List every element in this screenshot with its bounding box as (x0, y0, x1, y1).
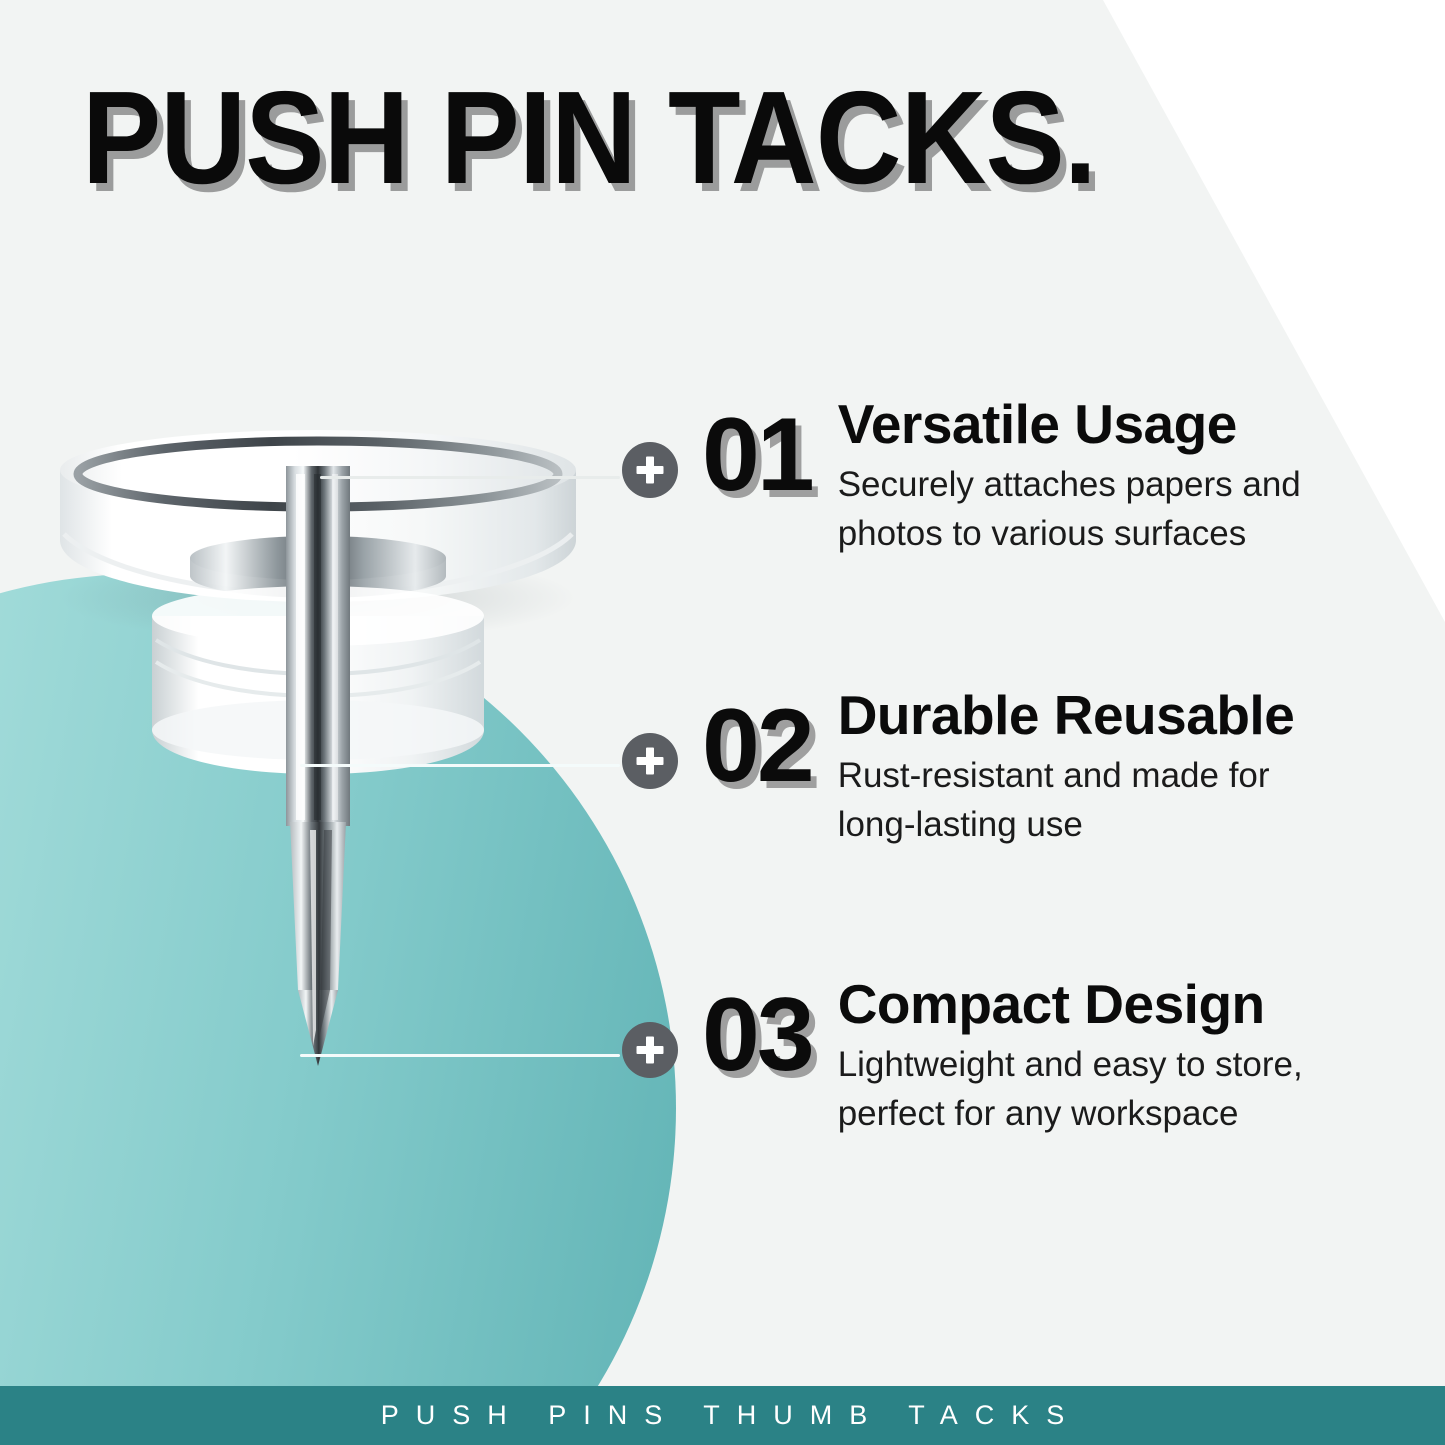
push-pin-product-image (40, 430, 600, 1150)
feature-heading-01: Versatile Usage (838, 396, 1301, 454)
plus-icon[interactable] (622, 733, 678, 789)
footer-bar: PUSH PINS THUMB TACKS (0, 1386, 1445, 1445)
feature-heading-03: Compact Design (838, 976, 1303, 1034)
leader-line-02 (300, 764, 620, 767)
feature-item-01: 01 Versatile Usage Securely attaches pap… (622, 392, 1301, 559)
infographic-canvas: PUSH PIN TACKS. 01 Versatile Usage Secur… (0, 0, 1445, 1445)
plus-icon[interactable] (622, 442, 678, 498)
feature-item-03: 03 Compact Design Lightweight and easy t… (622, 972, 1303, 1139)
leader-line-03 (300, 1054, 620, 1057)
page-title: PUSH PIN TACKS. (82, 72, 1096, 204)
leader-line-01 (320, 476, 620, 479)
footer-tagline: PUSH PINS THUMB TACKS (364, 1400, 1082, 1431)
feature-number-03: 03 (702, 986, 812, 1085)
feature-body-02: Rust-resistant and made for long-lasting… (838, 751, 1295, 850)
plus-icon[interactable] (622, 1022, 678, 1078)
feature-number-02: 02 (702, 697, 812, 796)
feature-heading-02: Durable Reusable (838, 687, 1295, 745)
feature-body-01: Securely attaches papers and photos to v… (838, 460, 1301, 559)
feature-body-03: Lightweight and easy to store, perfect f… (838, 1040, 1303, 1139)
feature-item-02: 02 Durable Reusable Rust-resistant and m… (622, 683, 1294, 850)
feature-number-01: 01 (702, 406, 812, 505)
